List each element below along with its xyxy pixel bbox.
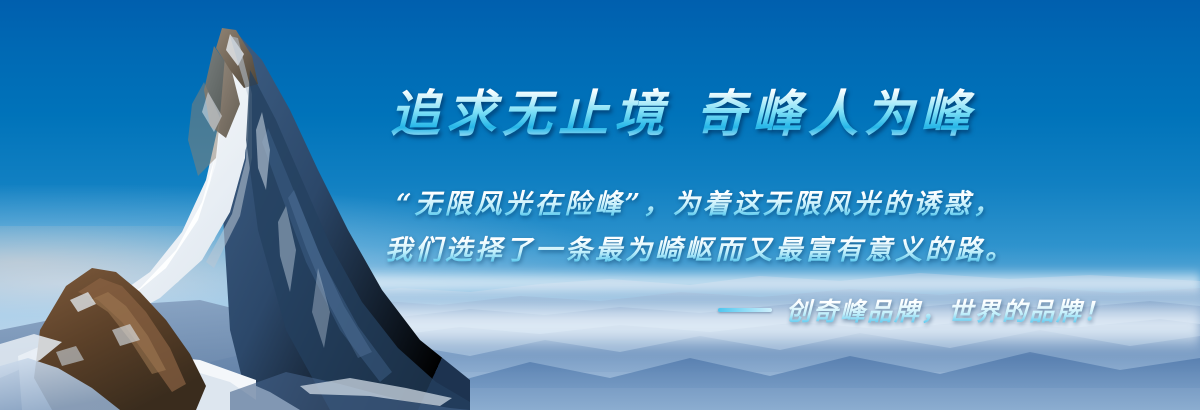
headline-part-1: 追求无止境 (390, 84, 670, 143)
banner-text-layer: 追求无止境奇峰人为峰 “无限风光在险峰”，为着这无限风光的诱惑， 我们选择了一条… (0, 0, 1200, 410)
tagline-dash-icon (718, 308, 772, 312)
banner-tagline-row: 创奇峰品牌，世界的品牌！ (718, 292, 1110, 328)
headline-part-2: 奇峰人为峰 (696, 84, 976, 143)
banner-subtitle-line-1: “无限风光在险峰”，为着这无限风光的诱惑， (396, 182, 1003, 221)
banner-headline: 追求无止境奇峰人为峰 (390, 74, 976, 146)
banner-tagline: 创奇峰品牌，世界的品牌！ (786, 292, 1110, 328)
banner-subtitle-line-2: 我们选择了一条最为崎岖而又最富有意义的路。 (385, 228, 1015, 267)
hero-banner: 追求无止境奇峰人为峰 “无限风光在险峰”，为着这无限风光的诱惑， 我们选择了一条… (0, 0, 1200, 410)
